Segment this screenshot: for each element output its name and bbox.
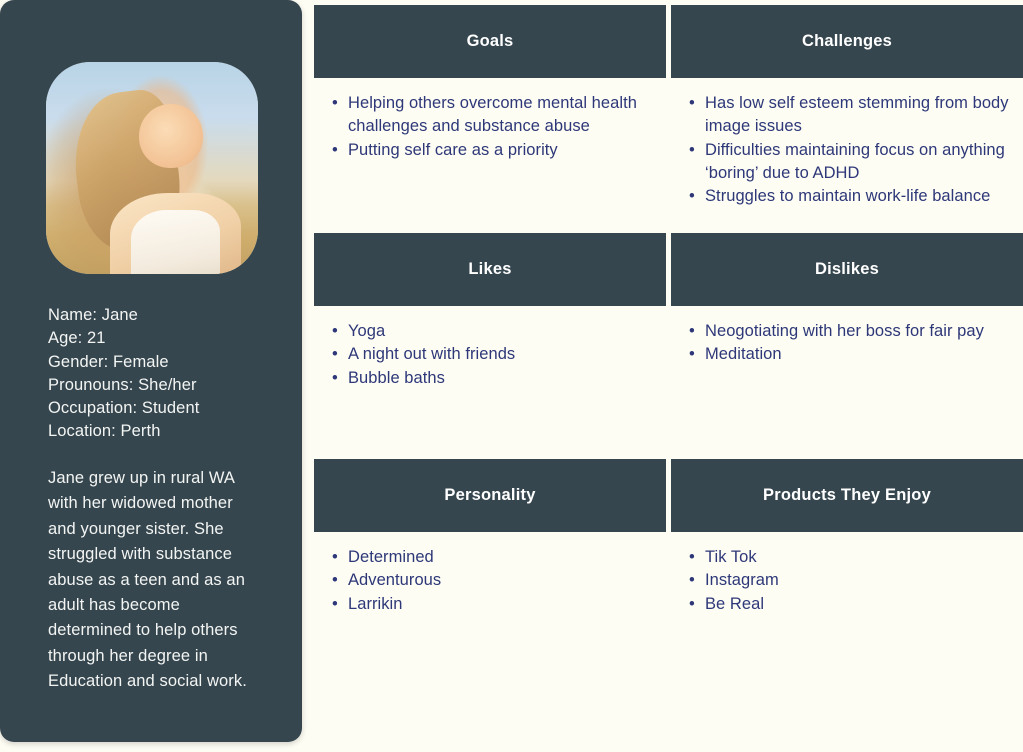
persona-details: Name: Jane Age: 21 Gender: Female Prouno… bbox=[48, 304, 266, 444]
persona-detail-gender: Gender: Female bbox=[48, 351, 266, 374]
panel-dislikes-title: Dislikes bbox=[671, 233, 1023, 306]
panel-personality-title: Personality bbox=[314, 459, 666, 532]
list-item: Determined bbox=[346, 546, 654, 569]
list-item: Be Real bbox=[703, 593, 1011, 616]
panel-dislikes-list: Neogotiating with her boss for fair pay … bbox=[681, 320, 1011, 367]
list-item: Neogotiating with her boss for fair pay bbox=[703, 320, 1011, 343]
panel-goals: Goals Helping others overcome mental hea… bbox=[314, 5, 666, 217]
panel-products-list: Tik Tok Instagram Be Real bbox=[681, 546, 1011, 616]
panel-products-body: Tik Tok Instagram Be Real bbox=[671, 532, 1023, 616]
panel-products-title: Products They Enjoy bbox=[671, 459, 1023, 532]
avatar bbox=[46, 62, 258, 274]
persona-detail-age: Age: 21 bbox=[48, 327, 266, 350]
panel-likes: Likes Yoga A night out with friends Bubb… bbox=[314, 233, 666, 445]
list-item: Tik Tok bbox=[703, 546, 1011, 569]
persona-bio: Jane grew up in rural WA with her widowe… bbox=[48, 466, 258, 695]
list-item: Struggles to maintain work-life balance bbox=[703, 185, 1011, 208]
panel-likes-title: Likes bbox=[314, 233, 666, 306]
panel-likes-list: Yoga A night out with friends Bubble bat… bbox=[324, 320, 654, 390]
panel-challenges-body: Has low self esteem stemming from body i… bbox=[671, 78, 1023, 208]
avatar-clothing-shape bbox=[131, 210, 220, 274]
persona-detail-location: Location: Perth bbox=[48, 420, 266, 443]
avatar-photo bbox=[46, 62, 258, 274]
panel-personality-list: Determined Adventurous Larrikin bbox=[324, 546, 654, 616]
panel-personality: Personality Determined Adventurous Larri… bbox=[314, 459, 666, 690]
panel-dislikes: Dislikes Neogotiating with her boss for … bbox=[671, 233, 1023, 445]
list-item: Has low self esteem stemming from body i… bbox=[703, 92, 1011, 139]
list-item: Bubble baths bbox=[346, 367, 654, 390]
list-item: A night out with friends bbox=[346, 343, 654, 366]
panel-challenges-title: Challenges bbox=[671, 5, 1023, 78]
panel-goals-body: Helping others overcome mental health ch… bbox=[314, 78, 666, 162]
persona-detail-pronouns: Prounouns: She/her bbox=[48, 374, 266, 397]
panel-goals-title: Goals bbox=[314, 5, 666, 78]
persona-card-page: Name: Jane Age: 21 Gender: Female Prouno… bbox=[0, 0, 1023, 752]
panel-likes-body: Yoga A night out with friends Bubble bat… bbox=[314, 306, 666, 390]
list-item: Helping others overcome mental health ch… bbox=[346, 92, 654, 139]
panel-products-they-enjoy: Products They Enjoy Tik Tok Instagram Be… bbox=[671, 459, 1023, 690]
persona-detail-name: Name: Jane bbox=[48, 304, 266, 327]
list-item: Yoga bbox=[346, 320, 654, 343]
panel-dislikes-body: Neogotiating with her boss for fair pay … bbox=[671, 306, 1023, 367]
list-item: Adventurous bbox=[346, 569, 654, 592]
persona-sidebar: Name: Jane Age: 21 Gender: Female Prouno… bbox=[0, 0, 302, 742]
panel-challenges-list: Has low self esteem stemming from body i… bbox=[681, 92, 1011, 208]
panel-goals-list: Helping others overcome mental health ch… bbox=[324, 92, 654, 162]
persona-panel-grid: Goals Helping others overcome mental hea… bbox=[314, 0, 1023, 752]
avatar-face-shape bbox=[139, 104, 203, 168]
list-item: Instagram bbox=[703, 569, 1011, 592]
panel-personality-body: Determined Adventurous Larrikin bbox=[314, 532, 666, 616]
list-item: Difficulties maintaining focus on anythi… bbox=[703, 139, 1011, 186]
list-item: Putting self care as a priority bbox=[346, 139, 654, 162]
persona-detail-occupation: Occupation: Student bbox=[48, 397, 266, 420]
panel-challenges: Challenges Has low self esteem stemming … bbox=[671, 5, 1023, 217]
list-item: Meditation bbox=[703, 343, 1011, 366]
list-item: Larrikin bbox=[346, 593, 654, 616]
